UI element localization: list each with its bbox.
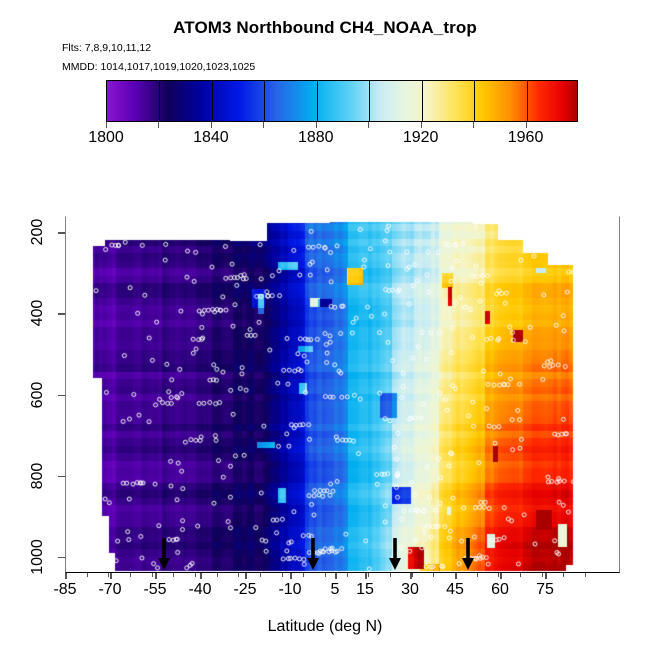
x-axis-minor-tick (152, 573, 153, 577)
colorbar-divider (212, 81, 213, 121)
x-axis-tick-label: -40 (188, 581, 211, 599)
x-axis-minor-tick (130, 573, 131, 577)
x-axis-tick (335, 573, 337, 579)
x-axis-tick (200, 573, 202, 579)
colorbar-divider (317, 81, 318, 121)
colorbar-tick-label: 1920 (403, 129, 439, 147)
x-axis-tick (410, 573, 412, 579)
x-axis-tick (500, 573, 502, 579)
x-axis-minor-tick (282, 573, 283, 577)
x-axis-minor-tick (368, 573, 369, 577)
colorbar-gradient (106, 80, 578, 122)
heatmap-area (65, 216, 620, 573)
x-axis-tick-label: 15 (356, 581, 374, 599)
colorbar-tick-label: 1960 (508, 129, 544, 147)
x-axis-tick-label: 30 (401, 581, 419, 599)
y-axis-tick-label: 400 (29, 294, 47, 332)
x-axis-minor-tick (303, 573, 304, 577)
y-axis-tick (58, 313, 65, 315)
x-axis-title: Latitude (deg N) (0, 618, 650, 636)
x-axis-minor-tick (195, 573, 196, 577)
x-axis-minor-tick (347, 573, 348, 577)
colorbar-tick (211, 122, 212, 128)
colorbar-tick (473, 122, 474, 128)
x-axis-tick (365, 573, 367, 579)
colorbar-tick (106, 122, 107, 128)
arrow-marker-1 (158, 538, 170, 575)
x-axis-tick (65, 573, 67, 579)
x-axis-tick-label: -10 (278, 581, 301, 599)
colorbar-tick-label: 1880 (298, 129, 334, 147)
y-axis-tick (58, 476, 65, 478)
x-axis-tick (290, 573, 292, 579)
page-title: ATOM3 Northbound CH4_NOAA_trop (0, 18, 650, 38)
x-axis-minor-tick (585, 573, 586, 577)
colorbar-gradient-fill (107, 81, 577, 121)
x-axis-tick-label: -70 (98, 581, 121, 599)
colorbar-tick (316, 122, 317, 128)
x-axis-tick (110, 573, 112, 579)
x-axis-tick-label: -85 (53, 581, 76, 599)
x-axis-minor-tick (412, 573, 413, 577)
x-axis-tick-label: 45 (446, 581, 464, 599)
x-axis-tick-label: -55 (143, 581, 166, 599)
x-axis-minor-tick (542, 573, 543, 577)
x-axis-minor-tick (520, 573, 521, 577)
x-axis-minor-tick (260, 573, 261, 577)
colorbar-divider (474, 81, 475, 121)
x-axis-minor-tick (87, 573, 88, 577)
colorbar-tick (421, 122, 422, 128)
x-axis-minor-tick (173, 573, 174, 577)
y-axis-tick-label: 600 (29, 376, 47, 414)
colorbar: 18001840188019201960 (106, 80, 578, 122)
colorbar-tick (158, 122, 159, 128)
arrow-marker-2 (307, 538, 319, 575)
x-axis-tick-label: 60 (491, 581, 509, 599)
x-axis-tick-label: -25 (233, 581, 256, 599)
x-axis-tick (455, 573, 457, 579)
x-axis-minor-tick (563, 573, 564, 577)
y-axis-tick (58, 395, 65, 397)
colorbar-divider (527, 81, 528, 121)
y-axis-tick-label: 1000 (29, 538, 47, 576)
colorbar-divider (159, 81, 160, 121)
arrow-marker-4 (462, 538, 474, 575)
x-axis-minor-tick (238, 573, 239, 577)
colorbar-tick-label: 1840 (193, 129, 229, 147)
y-axis-tick (58, 232, 65, 234)
colorbar-divider (422, 81, 423, 121)
x-axis-tick (545, 573, 547, 579)
sample-markers-canvas (65, 216, 620, 573)
colorbar-divider (369, 81, 370, 121)
x-axis-tick (155, 573, 157, 579)
dates-annotation: MMDD: 1014,1017,1019,1020,1023,1025 (62, 61, 255, 73)
x-axis-minor-tick (477, 573, 478, 577)
arrow-marker-3 (389, 538, 401, 575)
x-axis-tick (245, 573, 247, 579)
x-axis-minor-tick (325, 573, 326, 577)
y-axis-tick-label: 200 (29, 213, 47, 251)
x-axis-minor-tick (217, 573, 218, 577)
x-axis-minor-tick (433, 573, 434, 577)
curtain-plot: 2004006008001000-85-70-55-40-25-10515304… (65, 216, 620, 573)
colorbar-tick-label: 1800 (88, 129, 124, 147)
y-axis-tick-label: 800 (29, 457, 47, 495)
colorbar-tick (368, 122, 369, 128)
colorbar-divider (264, 81, 265, 121)
flights-annotation: Flts: 7,8,9,10,11,12 (62, 42, 151, 54)
y-axis-tick (58, 557, 65, 559)
x-axis-tick-label: 5 (331, 581, 340, 599)
x-axis: -85-70-55-40-25-1051530456075 (65, 573, 620, 603)
colorbar-tick (526, 122, 527, 128)
colorbar-tick (263, 122, 264, 128)
x-axis-tick-label: 75 (536, 581, 554, 599)
